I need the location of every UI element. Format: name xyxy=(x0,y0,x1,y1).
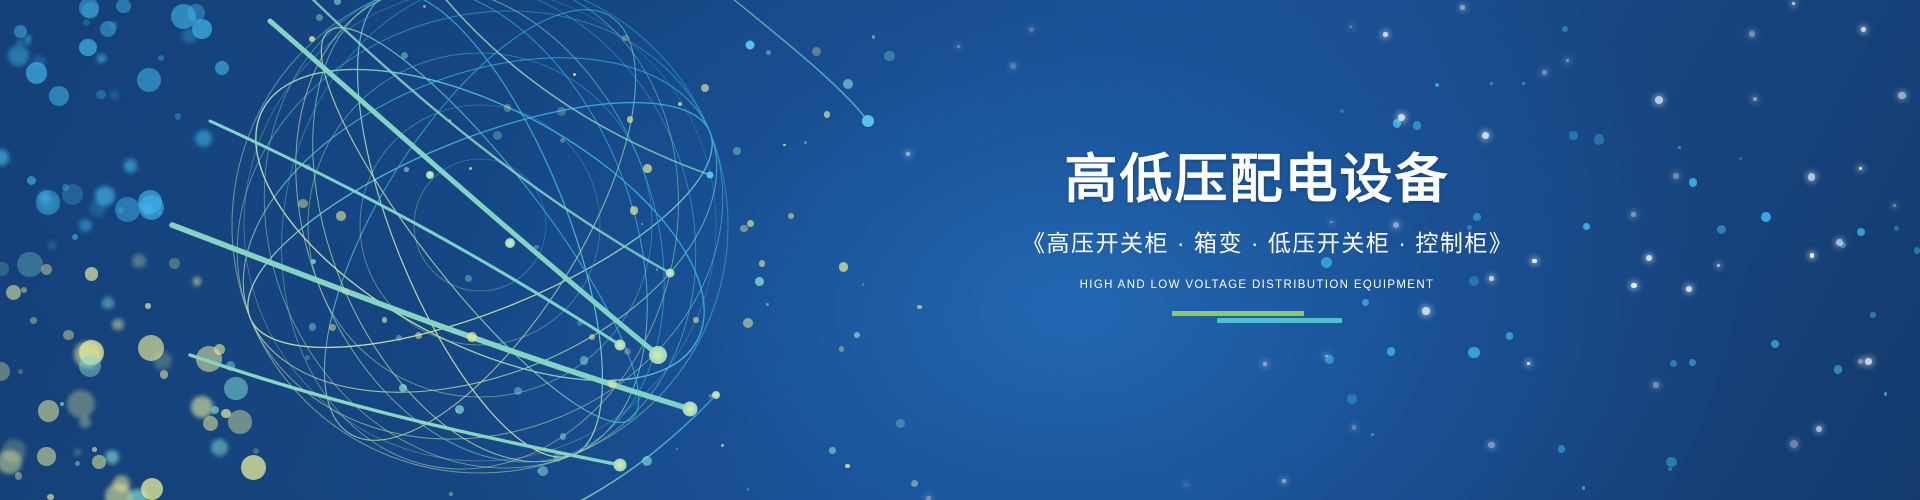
bokeh-dot xyxy=(115,197,140,222)
star-dot xyxy=(1383,32,1388,37)
star-dot xyxy=(1532,259,1537,264)
bokeh-dot xyxy=(116,0,131,13)
bokeh-dot xyxy=(1739,157,1742,160)
bokeh-dot xyxy=(132,254,146,268)
bokeh-dot xyxy=(124,159,138,173)
banner-subtitle: 《高压开关柜 · 箱变 · 低压开关柜 · 控制柜》 xyxy=(1022,229,1492,257)
bokeh-dot xyxy=(25,35,31,41)
bokeh-dot xyxy=(105,483,131,500)
bokeh-dot xyxy=(96,90,105,99)
bokeh-dot xyxy=(62,184,83,205)
bokeh-dot xyxy=(128,489,148,500)
bokeh-dot xyxy=(79,39,96,56)
bokeh-dot xyxy=(14,25,27,38)
bokeh-dot xyxy=(1840,242,1846,248)
bokeh-dot xyxy=(111,22,117,28)
bokeh-dot xyxy=(74,449,81,456)
bokeh-dot xyxy=(0,262,9,276)
bokeh-dot xyxy=(1761,212,1771,222)
star-dot xyxy=(1655,96,1663,104)
bokeh-dot xyxy=(1522,82,1525,85)
bokeh-dot xyxy=(118,207,124,213)
bokeh-dot xyxy=(21,287,27,293)
star-dot xyxy=(1686,286,1692,292)
star-dot xyxy=(1859,167,1862,170)
bokeh-dot xyxy=(1387,347,1396,356)
bokeh-dot xyxy=(92,447,96,451)
bokeh-dot xyxy=(18,369,22,373)
bokeh-dot xyxy=(48,241,57,250)
bokeh-dot xyxy=(1558,445,1565,452)
bokeh-dot xyxy=(1594,134,1605,145)
bokeh-dot xyxy=(1413,121,1422,130)
star-dot xyxy=(1858,359,1864,365)
bokeh-dot xyxy=(79,340,104,365)
bokeh-dot xyxy=(911,480,918,487)
bokeh-dot xyxy=(89,200,105,216)
hero-banner: 高低压配电设备 《高压开关柜 · 箱变 · 低压开关柜 · 控制柜》 HIGH … xyxy=(0,0,1920,500)
bokeh-dot xyxy=(1506,332,1513,339)
star-dot xyxy=(1816,426,1822,432)
bokeh-dot xyxy=(1666,457,1676,467)
bokeh-dot xyxy=(41,196,56,211)
star-dot xyxy=(1263,362,1267,366)
star-dot xyxy=(1673,173,1679,179)
bokeh-dot xyxy=(1834,365,1843,374)
star-dot xyxy=(1836,239,1843,246)
bokeh-dot xyxy=(79,416,91,428)
star-dot xyxy=(1865,358,1872,365)
star-dot xyxy=(1482,132,1489,139)
bokeh-dot xyxy=(112,319,124,331)
bokeh-dot xyxy=(1689,359,1696,366)
accent-bar-group xyxy=(1172,311,1342,325)
bokeh-dot xyxy=(1562,26,1568,32)
star-dot xyxy=(1460,5,1464,9)
bokeh-dot xyxy=(6,285,21,300)
star-dot xyxy=(1653,382,1659,388)
bokeh-dot xyxy=(49,86,69,106)
bokeh-dot xyxy=(1689,178,1697,186)
bokeh-dot xyxy=(60,402,64,406)
bokeh-dot xyxy=(100,21,116,37)
bokeh-dot xyxy=(113,475,130,492)
bokeh-dot xyxy=(15,472,23,480)
star-dot xyxy=(1398,114,1405,121)
bokeh-dot xyxy=(39,191,51,203)
bokeh-dot xyxy=(1393,119,1402,128)
bokeh-dot xyxy=(1582,486,1586,490)
star-dot xyxy=(906,152,910,156)
accent-bar-green xyxy=(1172,311,1304,316)
bokeh-dot xyxy=(1569,131,1578,140)
star-dot xyxy=(1749,31,1755,37)
bokeh-dot xyxy=(1670,360,1677,367)
banner-english-subtitle: HIGH AND LOW VOLTAGE DISTRIBUTION EQUIPM… xyxy=(1022,278,1492,292)
bokeh-dot xyxy=(1325,355,1334,364)
bokeh-dot xyxy=(17,39,23,45)
star-dot xyxy=(1350,26,1352,28)
bokeh-dot xyxy=(47,494,53,500)
bokeh-dot xyxy=(1678,146,1681,149)
bokeh-dot xyxy=(74,341,102,369)
bokeh-dot xyxy=(917,305,922,310)
star-dot xyxy=(1282,479,1286,483)
star-dot xyxy=(1566,59,1569,62)
bokeh-dot xyxy=(79,219,92,232)
star-dot xyxy=(1631,212,1636,217)
bokeh-dot xyxy=(1717,225,1727,235)
star-dot xyxy=(1542,70,1547,75)
bokeh-dot xyxy=(1340,109,1344,113)
bokeh-dot xyxy=(17,252,43,278)
bokeh-dot xyxy=(32,55,45,68)
star-dot xyxy=(1810,253,1814,257)
bokeh-dot xyxy=(110,90,119,99)
bokeh-dot xyxy=(1668,467,1672,471)
bokeh-dot xyxy=(2,439,26,463)
bokeh-dot xyxy=(92,455,106,469)
star-dot xyxy=(1631,283,1636,288)
bokeh-dot xyxy=(97,54,106,63)
bokeh-dot xyxy=(26,62,47,83)
star-dot xyxy=(1792,2,1795,5)
star-dot xyxy=(1893,204,1896,207)
bokeh-dot xyxy=(1870,312,1875,317)
bokeh-dot xyxy=(36,190,61,215)
bokeh-dot xyxy=(62,184,69,191)
star-dot xyxy=(1861,27,1866,32)
bokeh-dot xyxy=(0,149,9,166)
bokeh-dot xyxy=(41,264,52,275)
star-dot xyxy=(1325,355,1327,357)
bokeh-dot xyxy=(38,400,59,421)
bokeh-dot xyxy=(37,447,55,465)
bokeh-dot xyxy=(1884,392,1887,395)
page-title: 高低压配电设备 xyxy=(1022,150,1492,210)
bokeh-dot xyxy=(1857,228,1865,236)
bokeh-dot xyxy=(79,355,101,377)
bokeh-dot xyxy=(1468,347,1480,359)
star-dot xyxy=(1790,440,1798,448)
bokeh-dot xyxy=(75,461,80,466)
bokeh-dot xyxy=(1435,83,1440,88)
bokeh-dot xyxy=(1894,226,1899,231)
bokeh-dot xyxy=(0,362,10,381)
star-dot xyxy=(1646,255,1652,261)
bokeh-dot xyxy=(67,390,95,418)
star-dot xyxy=(1753,97,1757,101)
star-dot xyxy=(1808,173,1816,181)
star-dot xyxy=(1898,92,1905,99)
star-dot xyxy=(1185,484,1187,486)
bokeh-dot xyxy=(1583,223,1590,230)
star-dot xyxy=(957,45,960,48)
bokeh-dot xyxy=(8,45,29,66)
bokeh-dot xyxy=(896,419,905,428)
bokeh-dot xyxy=(63,330,73,340)
bokeh-dot xyxy=(72,234,78,240)
bokeh-dot xyxy=(30,317,37,324)
star-dot xyxy=(1488,442,1495,449)
star-dot xyxy=(1352,425,1356,429)
bokeh-dot xyxy=(1347,394,1357,404)
bokeh-dot xyxy=(1771,340,1779,348)
accent-bar-cyan xyxy=(1217,318,1342,323)
bokeh-dot xyxy=(85,267,99,281)
bokeh-dot xyxy=(102,297,114,309)
bokeh-dot xyxy=(0,450,22,475)
bokeh-dot xyxy=(1914,247,1920,254)
bokeh-dot xyxy=(1371,433,1375,437)
banner-text-block: 高低压配电设备 《高压开关柜 · 箱变 · 低压开关柜 · 控制柜》 HIGH … xyxy=(1022,150,1492,325)
star-dot xyxy=(1717,264,1721,268)
bokeh-dot xyxy=(105,450,119,464)
star-dot xyxy=(1029,27,1034,32)
globe-graphic xyxy=(150,0,890,500)
bokeh-dot xyxy=(1490,82,1493,85)
bokeh-dot xyxy=(82,2,99,19)
bokeh-dot xyxy=(25,40,31,46)
star-dot xyxy=(1527,362,1530,365)
bokeh-dot xyxy=(95,186,115,206)
bokeh-dot xyxy=(27,176,36,185)
star-dot xyxy=(926,496,931,500)
bokeh-dot xyxy=(79,0,98,18)
bokeh-dot xyxy=(83,19,90,26)
star-dot xyxy=(1010,63,1016,69)
